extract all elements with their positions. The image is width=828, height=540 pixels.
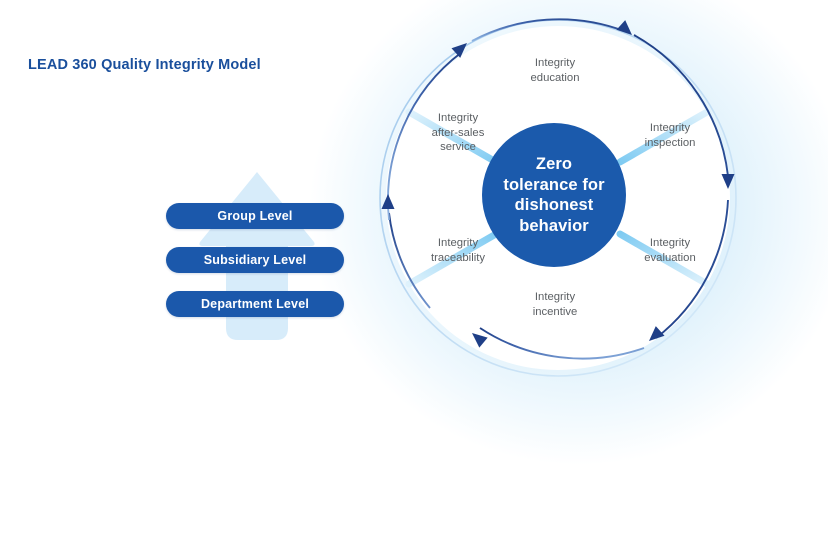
segment-label-integrity-inspection: Integrity inspection	[610, 121, 730, 150]
segment-label-integrity-incentive: Integrity incentive	[494, 290, 616, 319]
level-pill-label: Group Level	[217, 209, 292, 223]
level-pill-group[interactable]: Group Level	[166, 203, 344, 229]
wheel-hub-label: Zero tolerance for dishonest behavior	[503, 154, 604, 236]
level-pill-label: Department Level	[201, 297, 309, 311]
level-pill-label: Subsidiary Level	[204, 253, 307, 267]
diagram-canvas: LEAD 360 Quality Integrity Model Group L…	[0, 0, 828, 427]
segment-label-integrity-education: Integrity education	[494, 56, 616, 85]
segment-label-integrity-evaluation: Integrity evaluation	[610, 236, 730, 265]
level-pill-subsidiary[interactable]: Subsidiary Level	[166, 247, 344, 273]
level-pill-department[interactable]: Department Level	[166, 291, 344, 317]
wheel-hub: Zero tolerance for dishonest behavior	[482, 123, 626, 267]
page-title: LEAD 360 Quality Integrity Model	[28, 57, 261, 73]
